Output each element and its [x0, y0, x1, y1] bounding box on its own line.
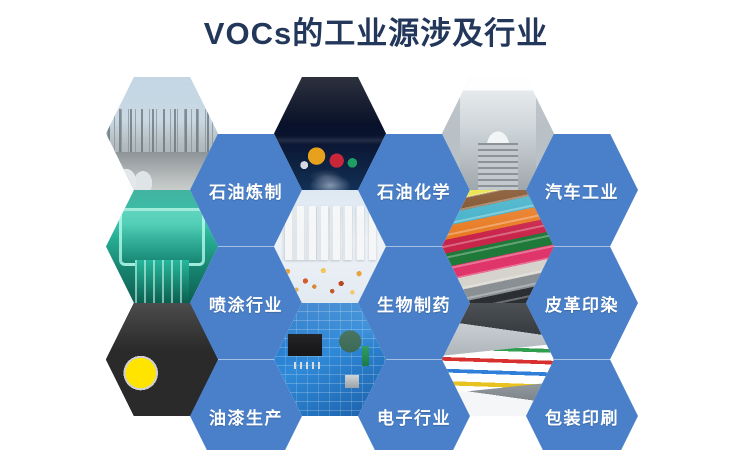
hex-label-text: 电子行业 [377, 404, 451, 429]
hex-label-text: 生物制药 [377, 291, 451, 316]
infographic-canvas: VOCs的工业源涉及行业 石油炼制喷涂行业油漆生产石油化学生物制药电子行业汽车工… [0, 0, 752, 450]
hex-label-text: 油漆生产 [209, 404, 283, 429]
hex-label-text: 石油炼制 [209, 178, 283, 203]
hex-label-text: 石油化学 [377, 178, 451, 203]
hex-label-text: 汽车工业 [545, 178, 619, 203]
hex-label-text: 包装印刷 [545, 404, 619, 429]
hex-label-text: 喷涂行业 [209, 291, 283, 316]
hexagon-honeycomb-grid: 石油炼制喷涂行业油漆生产石油化学生物制药电子行业汽车工业皮革印染包装印刷 [0, 0, 752, 450]
hex-label-text: 皮革印染 [545, 291, 619, 316]
